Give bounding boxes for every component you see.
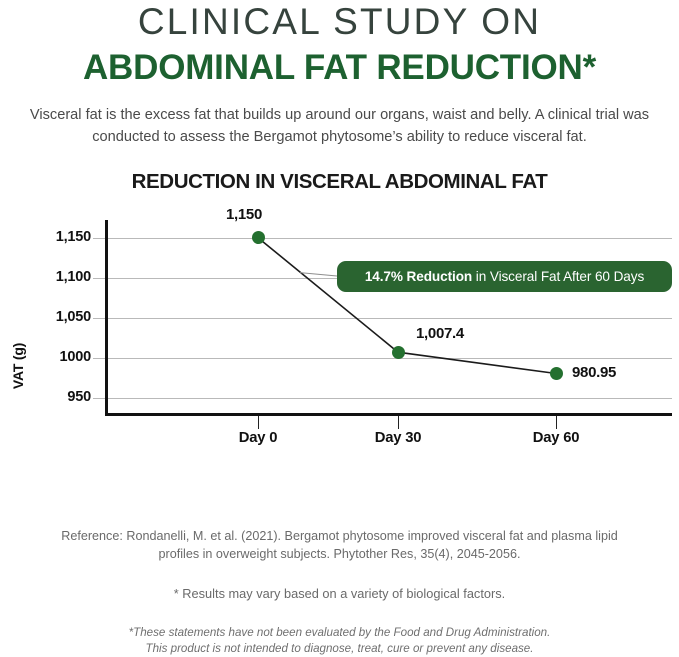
eyebrow-title: CLINICAL STUDY ON	[0, 2, 679, 42]
fda-disclaimer-line-2: This product is not intended to diagnose…	[0, 641, 679, 657]
chart-plot-area: VAT (g) 1,1501,1001,0501000950 Day 0Day …	[0, 220, 679, 470]
reference-text: Reference: Rondanelli, M. et al. (2021).…	[40, 527, 640, 563]
chart-container: REDUCTION IN VISCERAL ABDOMINAL FAT VAT …	[0, 170, 679, 470]
callout-highlight: 14.7% Reduction	[365, 269, 472, 284]
chart-title: REDUCTION IN VISCERAL ABDOMINAL FAT	[0, 170, 679, 194]
header: CLINICAL STUDY ON ABDOMINAL FAT REDUCTIO…	[0, 0, 679, 148]
series-line	[0, 220, 679, 470]
fda-disclaimer-line-1: *These statements have not been evaluate…	[0, 625, 679, 641]
footer: Reference: Rondanelli, M. et al. (2021).…	[0, 527, 679, 657]
intro-paragraph: Visceral fat is the excess fat that buil…	[20, 104, 660, 148]
fda-disclaimer: *These statements have not been evaluate…	[0, 625, 679, 657]
reduction-callout: 14.7% Reduction in Visceral Fat After 60…	[337, 261, 672, 292]
data-point-marker	[252, 231, 265, 244]
data-point-label: 980.95	[572, 364, 616, 381]
data-point-marker	[392, 346, 405, 359]
page-title: ABDOMINAL FAT REDUCTION*	[0, 48, 679, 88]
results-disclaimer: * Results may vary based on a variety of…	[0, 585, 679, 603]
data-point-label: 1,150	[226, 206, 262, 223]
callout-rest: in Visceral Fat After 60 Days	[472, 269, 644, 284]
data-point-marker	[550, 367, 563, 380]
data-point-label: 1,007.4	[416, 325, 464, 342]
